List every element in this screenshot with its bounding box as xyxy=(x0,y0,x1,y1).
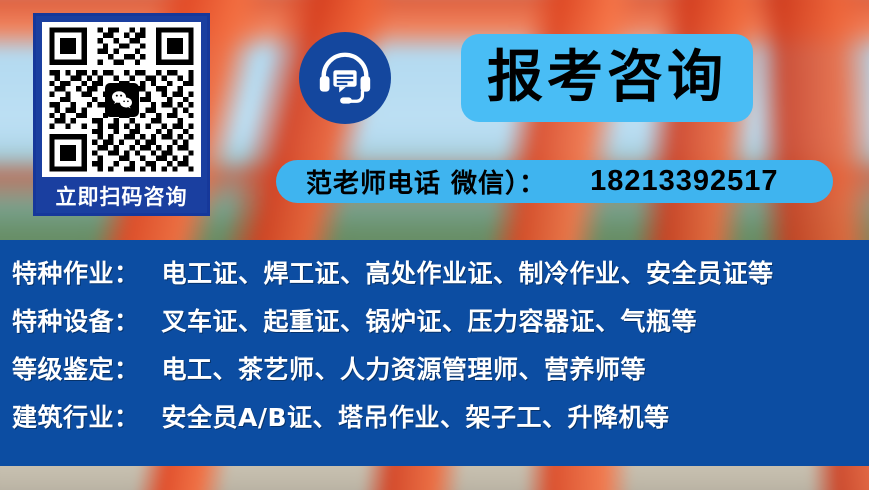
headset-support-icon xyxy=(299,32,391,124)
category-label: 特种设备： xyxy=(12,302,140,338)
contact-label: 范老师电话 微信）： xyxy=(306,163,546,200)
info-row-construction-industry: 建筑行业： 安全员A/B证、塔吊作业、架子工、升降机等 xyxy=(0,398,869,446)
title-pill: 报考咨询 xyxy=(461,34,753,122)
qr-caption: 立即扫码咨询 xyxy=(42,177,201,217)
contact-phone-pill[interactable]: 范老师电话 微信）： 18213392517 xyxy=(276,160,833,203)
qr-code-icon[interactable] xyxy=(42,22,201,177)
wechat-icon xyxy=(105,83,139,117)
contact-phone-number[interactable]: 18213392517 xyxy=(590,165,778,198)
info-row-special-equipment: 特种设备： 叉车证、起重证、锅炉证、压力容器证、气瓶等 xyxy=(0,302,869,350)
qr-card[interactable]: 立即扫码咨询 xyxy=(33,13,210,216)
category-items: 电工、茶艺师、人力资源管理师、营养师等 xyxy=(162,350,647,386)
category-items: 电工证、焊工证、高处作业证、制冷作业、安全员证等 xyxy=(162,254,774,290)
category-label: 特种作业： xyxy=(12,254,140,290)
category-items: 安全员A/B证、塔吊作业、架子工、升降机等 xyxy=(162,398,670,434)
category-label: 等级鉴定： xyxy=(12,350,140,386)
bottom-photo-strip xyxy=(0,466,869,490)
certificate-categories-panel: 特种作业： 电工证、焊工证、高处作业证、制冷作业、安全员证等 特种设备： 叉车证… xyxy=(0,240,869,467)
info-row-special-operations: 特种作业： 电工证、焊工证、高处作业证、制冷作业、安全员证等 xyxy=(0,254,869,302)
promo-banner: 立即扫码咨询 报考咨询 范老师电话 微信）： 18213392517 特种作业：… xyxy=(0,0,869,490)
category-items: 叉车证、起重证、锅炉证、压力容器证、气瓶等 xyxy=(162,302,698,338)
info-row-skill-grading: 等级鉴定： 电工、茶艺师、人力资源管理师、营养师等 xyxy=(0,350,869,398)
category-label: 建筑行业： xyxy=(12,398,140,434)
page-title: 报考咨询 xyxy=(487,50,727,106)
